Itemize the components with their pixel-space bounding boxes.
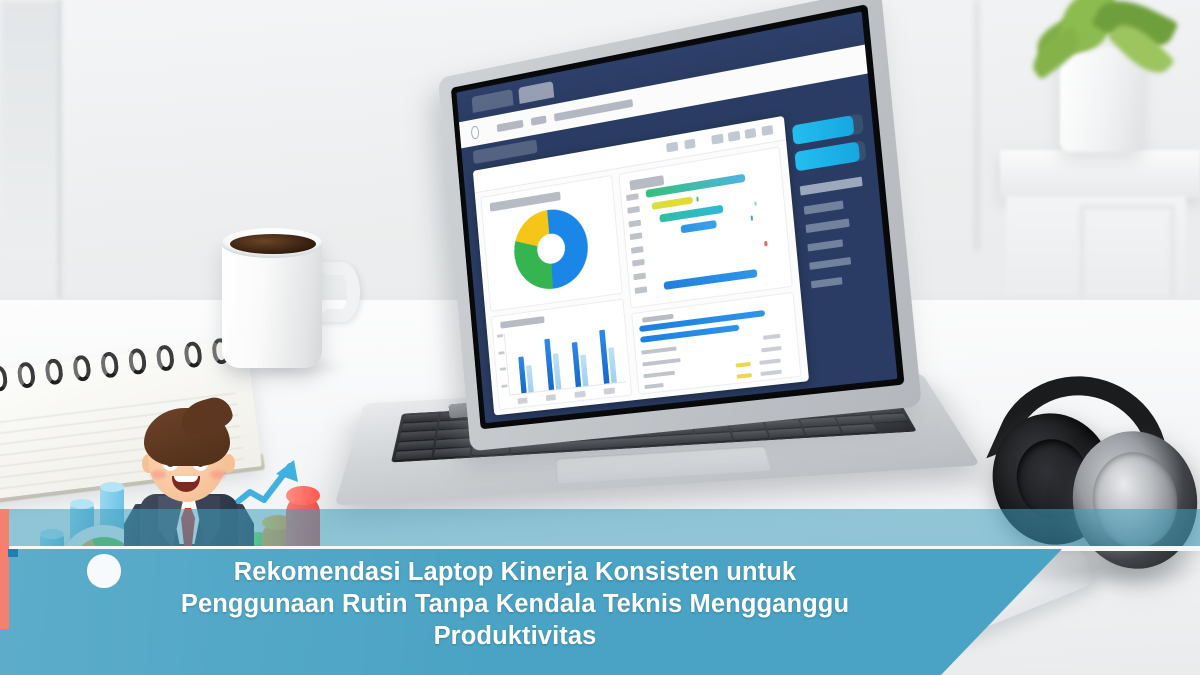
page-title-line-3: Produktivitas [0,620,1030,652]
donut-chart [511,204,591,293]
browser-tab-active[interactable] [518,81,554,103]
x-tick-label [517,397,528,404]
list-row-value [760,369,782,376]
filter-icon[interactable] [712,134,724,145]
user-icon[interactable] [684,139,696,150]
y-tick-label [501,384,508,388]
gantt-bar [681,220,717,233]
gantt-chart-panel [618,146,793,308]
wall-panel-left [0,0,60,260]
x-tick-label [574,391,585,398]
list-row-label [644,371,676,379]
bar-group [516,333,534,393]
dashboard-app [473,116,810,415]
row-label [628,219,641,227]
list-table-panel [631,291,802,394]
sidebar-item[interactable] [807,239,843,252]
laptop-trackpad[interactable] [555,445,772,483]
sidebar-item[interactable] [804,201,844,215]
laptop-lid [438,0,922,451]
screenshot-root: Rekomendasi Laptop Kinerja Konsisten unt… [0,0,1200,675]
browser-tab[interactable] [472,89,514,112]
menu-icon[interactable] [761,125,773,136]
coffee-mug [222,228,337,368]
list-row-value [761,346,781,352]
gantt-marker [754,201,757,206]
row-label [631,246,644,254]
list-row-badge [736,362,751,368]
shelf-compartment [1080,205,1175,310]
list-row-label [645,383,664,389]
list-row-value [763,334,780,340]
list-row-label [642,346,677,354]
coffee-surface [230,234,316,254]
x-tick-label [546,394,557,401]
laptop-screen [456,12,897,424]
bar-chart-panel [491,299,632,410]
gantt-marker [764,241,767,246]
bar-group [571,326,589,387]
list-row-badge [737,373,752,379]
y-tick-label [500,367,507,371]
laptop [330,30,970,540]
mascot-cheek [210,470,225,479]
progress-bar [791,113,864,145]
bar-series-group [509,321,624,394]
gantt-bar [664,269,758,289]
mascot-cheek [151,470,166,479]
page-title-line-2: Penggunaan Rutin Tanpa Kendala Teknis Me… [0,588,1030,620]
sort-icon[interactable] [728,131,740,142]
donut-chart-panel [481,175,623,312]
wall-seam-right [975,0,979,250]
row-label [632,259,645,267]
row-label [626,193,639,201]
laptop-bezel [451,4,905,429]
x-tick-label [603,388,614,395]
sidebar-heading [800,176,862,195]
gantt-marker [696,197,699,202]
sidebar-item[interactable] [805,219,850,233]
row-label [627,206,640,214]
row-label [629,233,642,241]
sidebar-item[interactable] [811,277,843,289]
progress-bar [794,140,867,172]
panel-title [490,192,561,212]
bar-group [543,329,561,390]
y-tick-label [498,351,505,355]
sidebar-item[interactable] [809,257,851,270]
panel-title [500,316,544,328]
bell-icon[interactable] [666,142,678,153]
export-icon[interactable] [744,128,756,139]
gantt-bar [652,196,694,210]
bar-group [598,322,616,384]
shelf [1000,150,1200,198]
page-title-line-1: Rekomendasi Laptop Kinerja Konsisten unt… [0,556,1030,588]
page-title: Rekomendasi Laptop Kinerja Konsisten unt… [0,556,1030,652]
wall-seam-left [58,0,61,300]
list-row-label [643,358,681,366]
list-row-value [759,359,781,366]
banner-overlay-strip [0,509,1200,549]
search-icon [471,125,480,140]
gantt-marker [750,216,753,221]
y-tick-label [497,335,504,339]
row-label [634,286,647,294]
plant-pot [1060,47,1142,152]
row-label [633,273,646,281]
